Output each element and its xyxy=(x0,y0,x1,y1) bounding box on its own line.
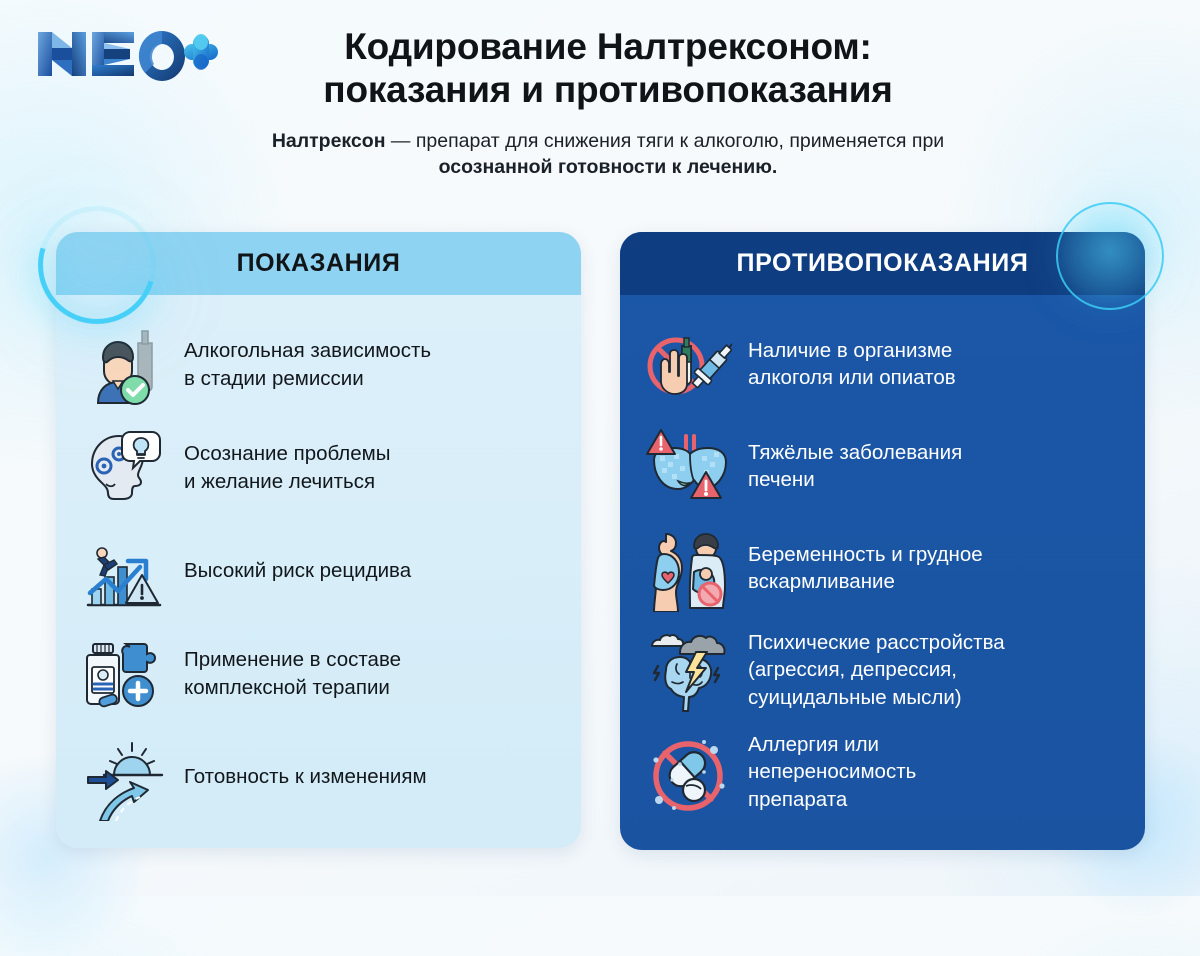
subtitle-bold-lead: Налтрексон xyxy=(272,130,386,152)
subtitle-bold-tail: осознанной готовности к лечению. xyxy=(439,156,778,178)
list-item-label: Аллергия или непереносимость препарата xyxy=(748,731,916,813)
list-item: Осознание проблемы и желание лечиться xyxy=(80,416,555,519)
list-item-label: Беременность и грудное вскармливание xyxy=(748,541,983,596)
liver-warning-icon xyxy=(644,422,732,510)
list-item: Высокий риск рецидива xyxy=(80,519,555,622)
head-gears-idea-icon xyxy=(80,424,168,512)
card-indications-title: ПОКАЗАНИЯ xyxy=(237,249,401,278)
list-item: Готовность к изменениям xyxy=(80,725,555,828)
brand-logo xyxy=(34,24,220,86)
list-item: Алкогольная зависимость в стадии ремисси… xyxy=(80,313,555,416)
no-alcohol-syringe-icon xyxy=(644,320,732,408)
card-indications: ПОКАЗАНИЯ Алкогольная зависимость в ст xyxy=(56,232,581,848)
page-title: Кодирование Налтрексоном: показания и пр… xyxy=(228,26,988,112)
brain-storm-icon xyxy=(644,626,732,714)
list-item: Психические расстройства (агрессия, депр… xyxy=(644,619,1119,721)
page-title-line2: показания и противопоказания xyxy=(323,69,892,110)
list-item-label: Готовность к изменениям xyxy=(184,763,427,790)
list-item: Наличие в организме алкоголя или опиатов xyxy=(644,313,1119,415)
person-bottle-check-icon xyxy=(80,321,168,409)
list-item: Аллергия или непереносимость препарата xyxy=(644,721,1119,823)
card-contraindications-header: ПРОТИВОПОКАЗАНИЯ xyxy=(620,232,1145,295)
no-pills-allergy-icon xyxy=(644,728,732,816)
card-indications-items: Алкогольная зависимость в стадии ремисси… xyxy=(56,295,581,846)
list-item: Применение в составе комплексной терапии xyxy=(80,622,555,725)
list-item-label: Высокий риск рецидива xyxy=(184,557,411,584)
subtitle-middle: — препарат для снижения тяги к алкоголю,… xyxy=(385,130,944,152)
list-item: Беременность и грудное вскармливание xyxy=(644,517,1119,619)
list-item-label: Наличие в организме алкоголя или опиатов xyxy=(748,337,956,392)
cards-container: ПОКАЗАНИЯ Алкогольная зависимость в ст xyxy=(0,232,1200,852)
card-indications-header: ПОКАЗАНИЯ xyxy=(56,232,581,295)
list-item-label: Психические расстройства (агрессия, депр… xyxy=(748,629,1005,711)
page-title-line1: Кодирование Налтрексоном: xyxy=(344,26,871,67)
sunrise-road-arrow-icon xyxy=(80,733,168,821)
page-subtitle: Налтрексон — препарат для снижения тяги … xyxy=(228,128,988,181)
card-contraindications-title: ПРОТИВОПОКАЗАНИЯ xyxy=(737,249,1029,278)
list-item-label: Тяжёлые заболевания печени xyxy=(748,439,962,494)
list-item-label: Применение в составе комплексной терапии xyxy=(184,646,401,701)
list-item-label: Осознание проблемы и желание лечиться xyxy=(184,440,391,495)
card-contraindications: ПРОТИВОПОКАЗАНИЯ xyxy=(620,232,1145,850)
pregnancy-breastfeeding-icon xyxy=(644,524,732,612)
list-item: Тяжёлые заболевания печени xyxy=(644,415,1119,517)
page-header: Кодирование Налтрексоном: показания и пр… xyxy=(0,0,1200,212)
list-item-label: Алкогольная зависимость в стадии ремисси… xyxy=(184,337,431,392)
card-contraindications-items: Наличие в организме алкоголя или опиатов xyxy=(620,295,1145,841)
rising-chart-warning-icon xyxy=(80,527,168,615)
medicine-puzzle-plus-icon xyxy=(80,630,168,718)
